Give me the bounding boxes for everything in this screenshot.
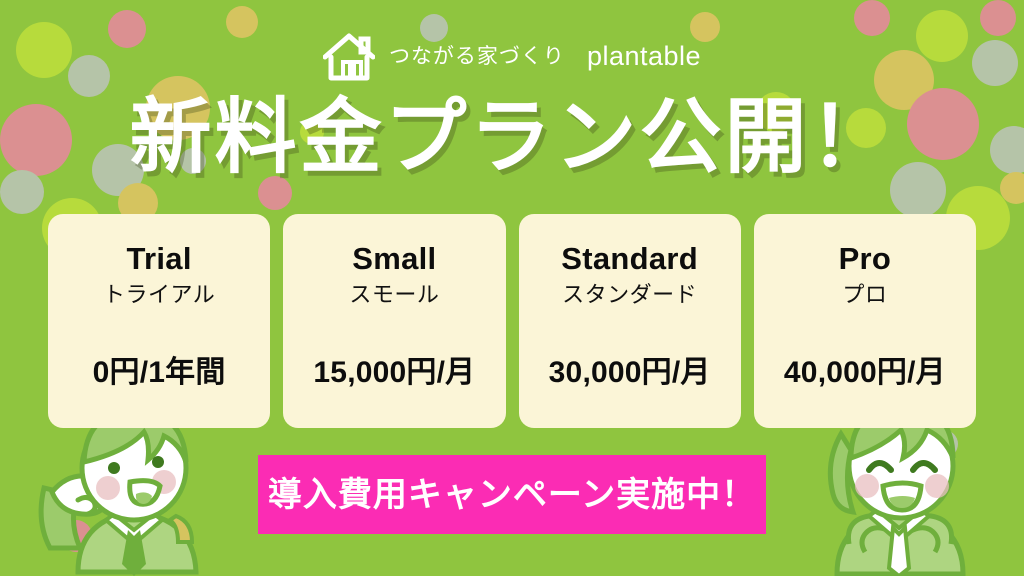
plan-card-standard[interactable]: Standard スタンダード 30,000円/月 xyxy=(519,214,741,428)
plan-name-ja: プロ xyxy=(842,282,887,308)
campaign-banner-label: 導入費用キャンペーン実施中！ xyxy=(268,478,756,512)
pricing-plan-list: Trial トライアル 0円/1年間 Small スモール 15,000円/月 … xyxy=(48,214,976,428)
plan-price: 40,000円/月 xyxy=(784,347,946,391)
plan-name-ja: スモール xyxy=(349,282,439,308)
house-icon xyxy=(323,31,375,81)
plan-name: Standard xyxy=(561,242,698,277)
plan-card-pro[interactable]: Pro プロ 40,000円/月 xyxy=(754,214,976,428)
plan-card-trial[interactable]: Trial トライアル 0円/1年間 xyxy=(48,214,270,428)
plan-name: Small xyxy=(352,242,436,277)
page-title: 新料金プラン公開！ xyxy=(0,92,1024,184)
plan-card-small[interactable]: Small スモール 15,000円/月 xyxy=(283,214,505,428)
plan-price: 30,000円/月 xyxy=(549,347,711,391)
logo-tagline: つながる家づくり xyxy=(389,46,565,67)
plan-price: 15,000円/月 xyxy=(313,347,475,391)
campaign-banner[interactable]: 導入費用キャンペーン実施中！ xyxy=(258,455,766,534)
plan-price: 0円/1年間 xyxy=(93,347,226,391)
plan-name-ja: スタンダード xyxy=(562,282,697,308)
brand-logo: つながる家づくり plantable xyxy=(0,26,1024,86)
plan-name-ja: トライアル xyxy=(103,282,215,308)
pricing-poster: つながる家づくり plantable 新料金プラン公開！ Trial トライアル… xyxy=(0,0,1024,576)
logo-wordmark: plantable xyxy=(587,43,701,70)
plan-name: Trial xyxy=(126,242,191,277)
plan-name: Pro xyxy=(839,242,892,277)
